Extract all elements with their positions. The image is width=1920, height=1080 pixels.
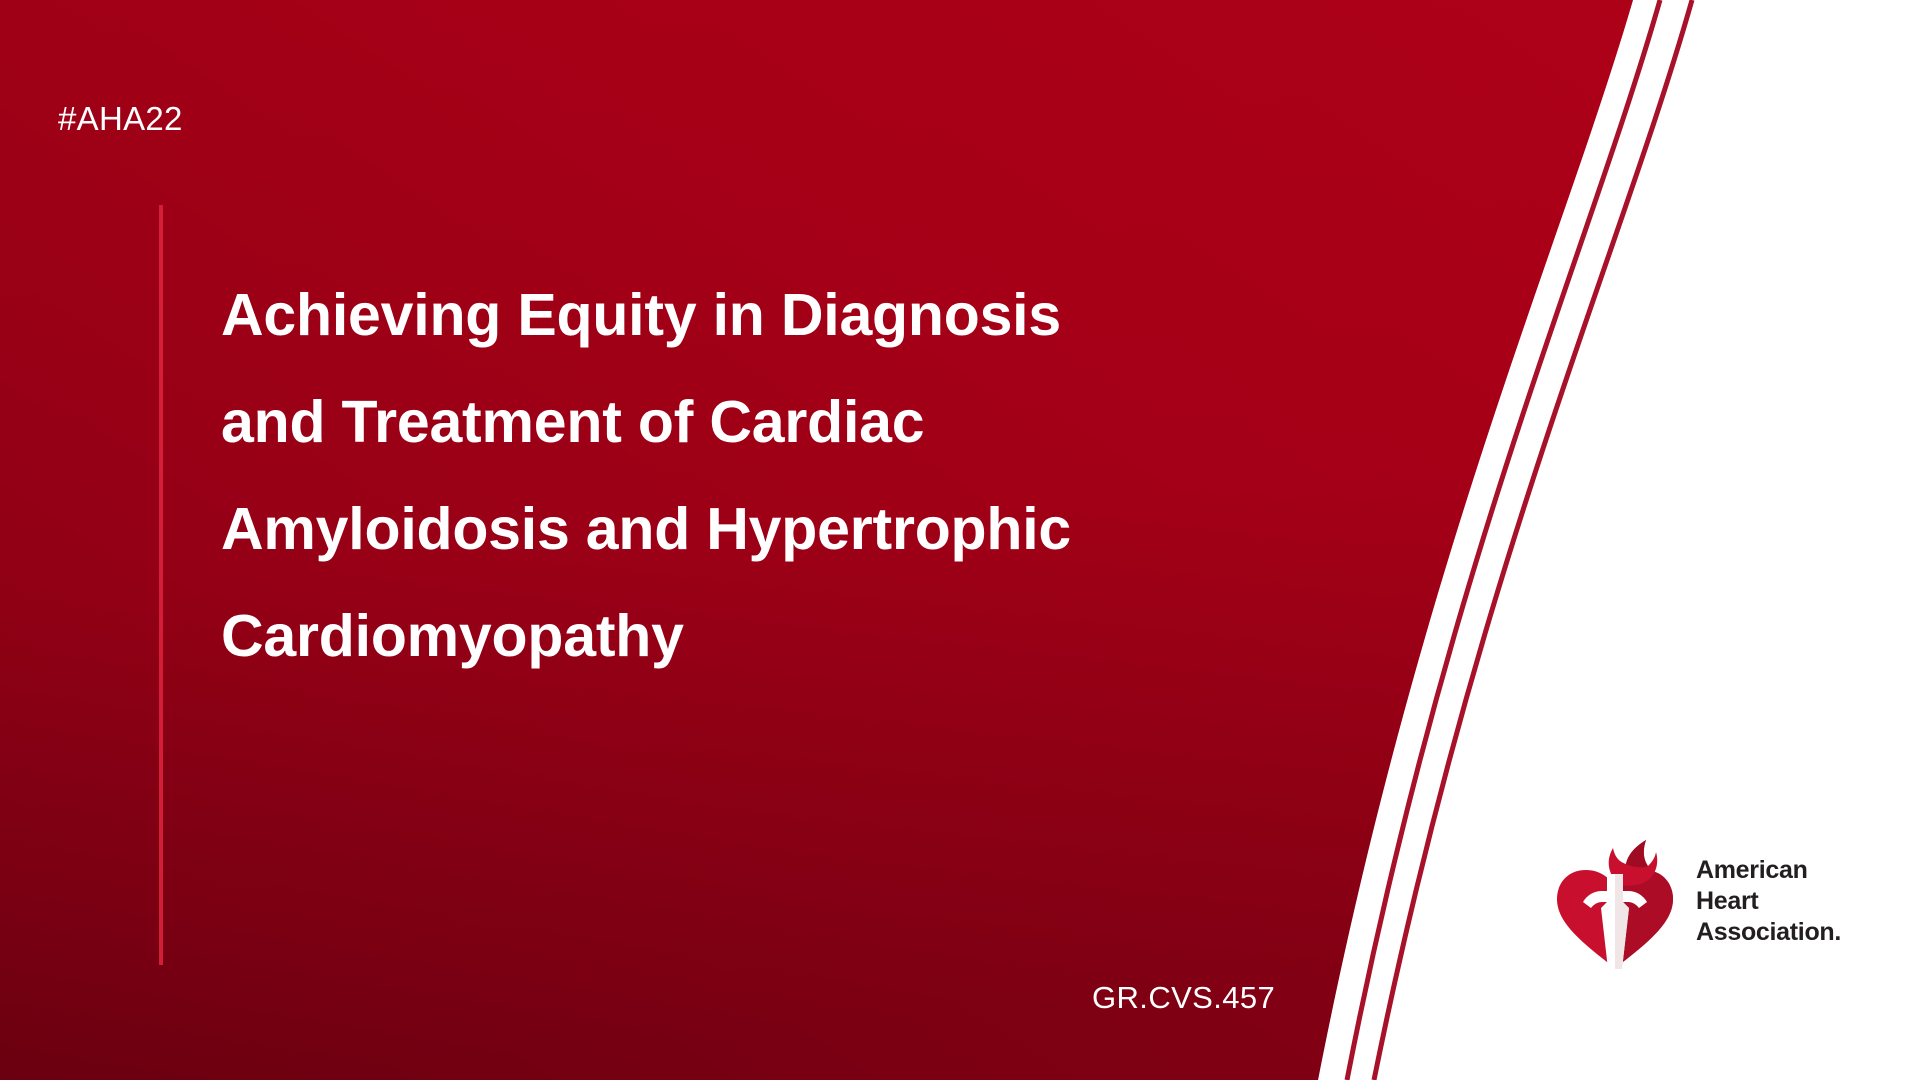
material-code: GR.CVS.457 <box>1092 980 1275 1016</box>
wordmark-line-2: Heart <box>1696 886 1841 917</box>
presentation-title-slide: #AHA22 Achieving Equity in Diagnosis and… <box>0 0 1920 1080</box>
aha-logo: American Heart Association. <box>1556 826 1856 976</box>
wordmark-line-3: Association. <box>1696 917 1841 948</box>
title-line-3: Amyloidosis and Hypertrophic <box>221 476 1341 583</box>
aha-heart-torch-icon <box>1556 834 1674 969</box>
title-accent-rule <box>159 205 163 965</box>
aha-wordmark: American Heart Association. <box>1696 855 1841 948</box>
page-title: Achieving Equity in Diagnosis and Treatm… <box>221 262 1341 690</box>
title-line-2: and Treatment of Cardiac <box>221 369 1341 476</box>
title-line-1: Achieving Equity in Diagnosis <box>221 262 1341 369</box>
wordmark-line-1: American <box>1696 855 1841 886</box>
title-line-4: Cardiomyopathy <box>221 583 1341 690</box>
event-hashtag: #AHA22 <box>58 100 183 138</box>
